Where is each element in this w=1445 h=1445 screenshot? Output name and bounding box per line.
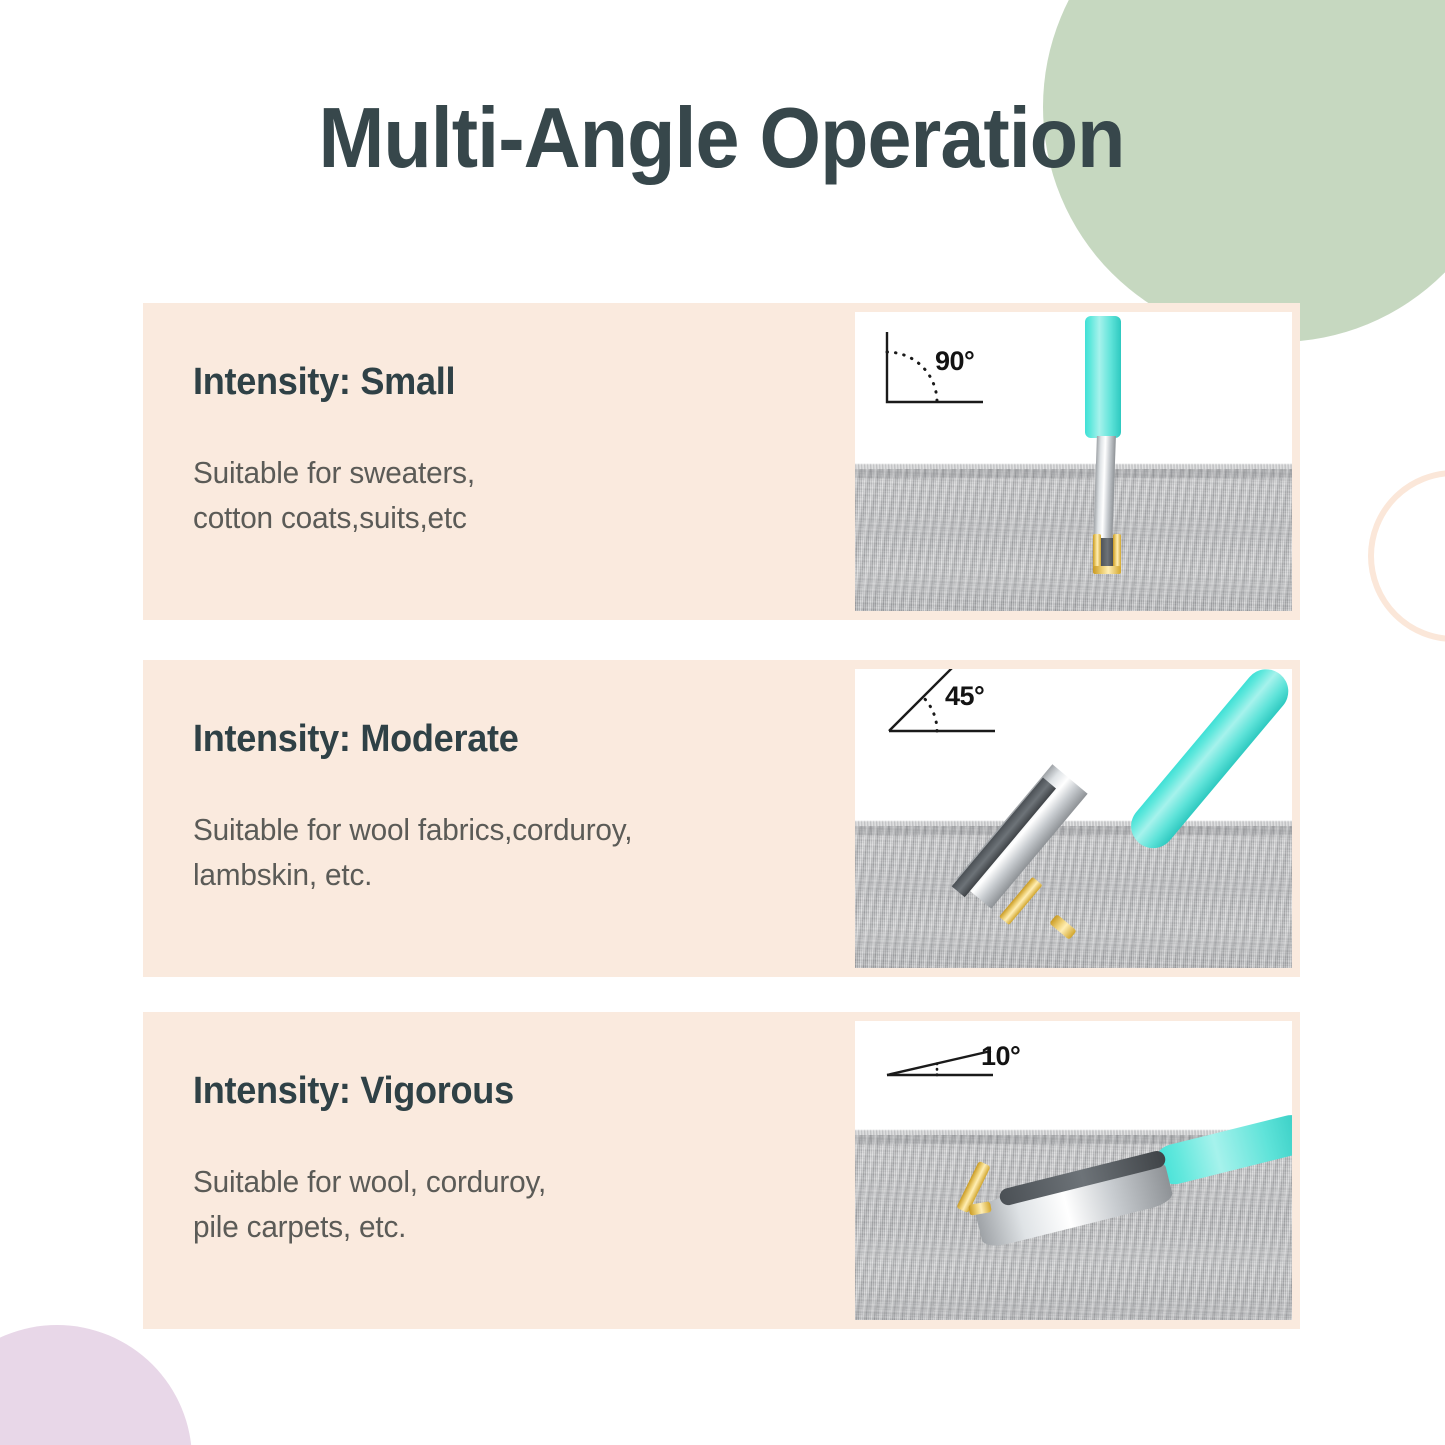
angle-icon-45: [877, 669, 1007, 757]
card-text-block: Intensity: Moderate Suitable for wool fa…: [193, 660, 853, 977]
tool-blade: [956, 764, 1088, 908]
angle-label: 45°: [945, 681, 984, 712]
card-body: Suitable for wool, corduroy, pile carpet…: [193, 1160, 546, 1250]
card-heading: Intensity: Vigorous: [193, 1070, 514, 1113]
tool-gold-tip: [1093, 566, 1121, 574]
angle-indicator-45: 45°: [877, 669, 1007, 762]
card-body: Suitable for sweaters, cotton coats,suit…: [193, 451, 475, 541]
card-text-block: Intensity: Small Suitable for sweaters, …: [193, 303, 853, 620]
page-title: Multi-Angle Operation: [183, 96, 1259, 181]
angle-indicator-90: 90°: [873, 326, 993, 426]
intensity-card-moderate: Intensity: Moderate Suitable for wool fa…: [143, 660, 1300, 977]
angle-label: 90°: [935, 346, 974, 377]
product-photo-90: 90°: [855, 312, 1292, 611]
tool-gold-tip: [1049, 914, 1077, 940]
tool-blade: [1093, 436, 1116, 546]
intensity-card-small: Intensity: Small Suitable for sweaters, …: [143, 303, 1300, 620]
product-photo-10: 10°: [855, 1021, 1292, 1320]
card-text-block: Intensity: Vigorous Suitable for wool, c…: [193, 1012, 853, 1329]
card-heading: Intensity: Moderate: [193, 718, 519, 761]
card-body: Suitable for wool fabrics,corduroy, lamb…: [193, 808, 632, 898]
product-photo-45: 45°: [855, 669, 1292, 968]
tool-handle: [1150, 1111, 1292, 1189]
intensity-card-vigorous: Intensity: Vigorous Suitable for wool, c…: [143, 1012, 1300, 1329]
decorative-peach-ring: [1368, 470, 1445, 642]
tool-handle: [1122, 669, 1292, 857]
angle-icon-90: [873, 326, 993, 421]
tool-handle: [1085, 316, 1121, 438]
angle-label: 10°: [981, 1041, 1020, 1072]
angle-indicator-10: 10°: [877, 1027, 1007, 1112]
decorative-purple-circle: [0, 1325, 192, 1445]
card-heading: Intensity: Small: [193, 361, 455, 404]
infographic-canvas: Multi-Angle Operation Intensity: Small S…: [0, 0, 1445, 1445]
carpet-surface: [855, 469, 1292, 611]
